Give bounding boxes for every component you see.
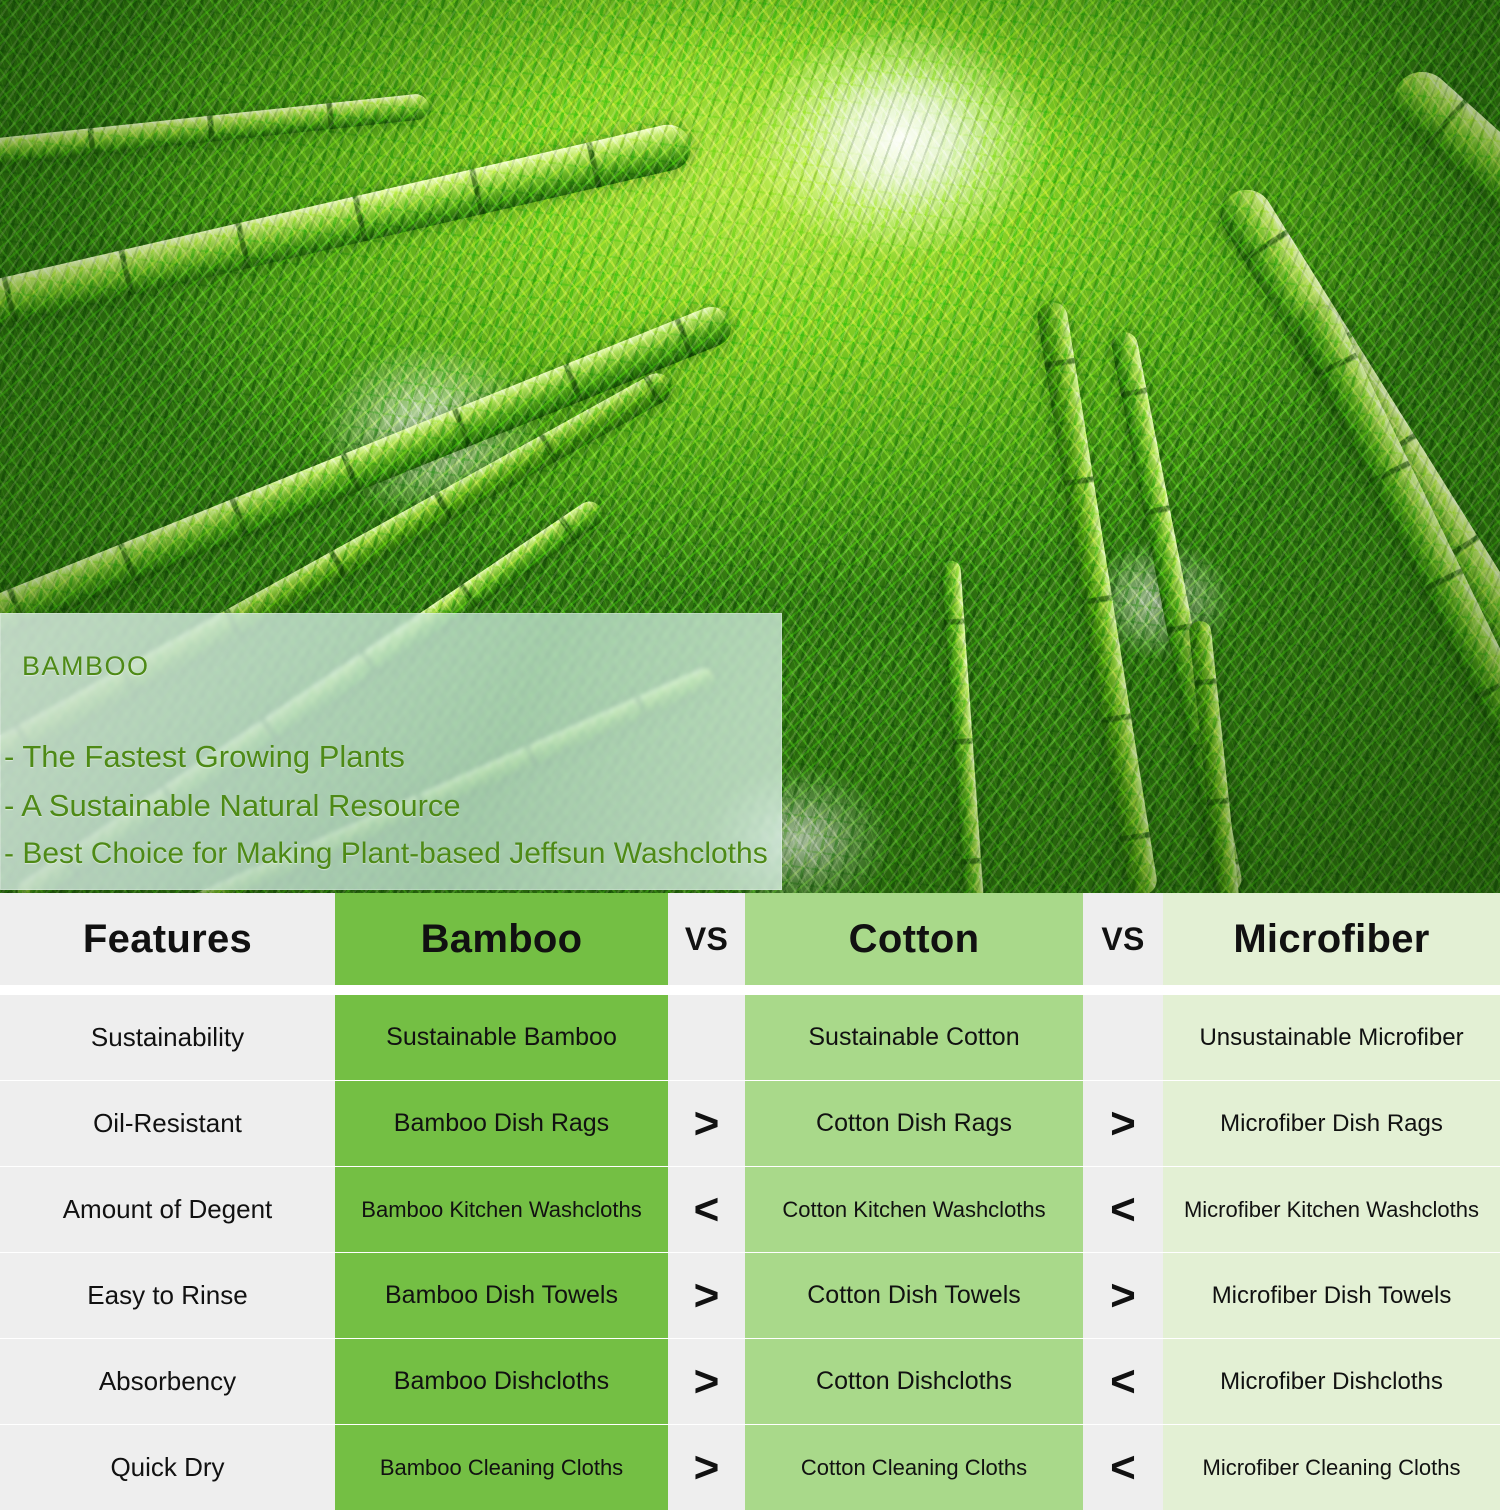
cell-comparator: > bbox=[668, 1339, 745, 1424]
cell-bamboo: Bamboo Dish Rags bbox=[335, 1081, 668, 1166]
cell-comparator: > bbox=[1083, 1253, 1163, 1338]
table-row: Oil-Resistant Bamboo Dish Rags > Cotton … bbox=[0, 1081, 1500, 1166]
panel-title: BAMBOO bbox=[22, 651, 150, 682]
cell-feature: Sustainability bbox=[0, 995, 335, 1080]
cell-feature: Absorbency bbox=[0, 1339, 335, 1424]
cell-microfiber: Microfiber Dish Towels bbox=[1163, 1253, 1500, 1338]
comparison-table: Features Bamboo VS Cotton VS Microfiber … bbox=[0, 893, 1500, 1500]
cell-comparator bbox=[668, 995, 745, 1080]
cell-comparator: > bbox=[668, 1425, 745, 1510]
header-cotton: Cotton bbox=[745, 893, 1083, 985]
bamboo-forest-photo: BAMBOO - The Fastest Growing Plants - A … bbox=[0, 0, 1500, 893]
cell-microfiber: Microfiber Cleaning Cloths bbox=[1163, 1425, 1500, 1510]
table-row: Sustainability Sustainable Bamboo Sustai… bbox=[0, 995, 1500, 1080]
cell-comparator bbox=[1083, 995, 1163, 1080]
panel-bullet-2: - A Sustainable Natural Resource bbox=[4, 788, 461, 824]
cell-comparator: > bbox=[668, 1253, 745, 1338]
cell-feature: Easy to Rinse bbox=[0, 1253, 335, 1338]
cell-bamboo: Bamboo Cleaning Cloths bbox=[335, 1425, 668, 1510]
header-microfiber: Microfiber bbox=[1163, 893, 1500, 985]
header-bamboo: Bamboo bbox=[335, 893, 668, 985]
cell-feature: Oil-Resistant bbox=[0, 1081, 335, 1166]
cell-bamboo: Bamboo Kitchen Washcloths bbox=[335, 1167, 668, 1252]
table-row: Quick Dry Bamboo Cleaning Cloths > Cotto… bbox=[0, 1425, 1500, 1510]
header-vs-1: VS bbox=[668, 893, 745, 985]
product-comparison-infographic: BAMBOO - The Fastest Growing Plants - A … bbox=[0, 0, 1500, 1500]
table-row: Absorbency Bamboo Dishcloths > Cotton Di… bbox=[0, 1339, 1500, 1424]
cell-cotton: Cotton Dish Towels bbox=[745, 1253, 1083, 1338]
cell-bamboo: Bamboo Dishcloths bbox=[335, 1339, 668, 1424]
cell-comparator: > bbox=[668, 1081, 745, 1166]
cell-microfiber: Microfiber Kitchen Washcloths bbox=[1163, 1167, 1500, 1252]
table-row: Amount of Degent Bamboo Kitchen Washclot… bbox=[0, 1167, 1500, 1252]
cell-cotton: Cotton Cleaning Cloths bbox=[745, 1425, 1083, 1510]
cell-comparator: < bbox=[1083, 1339, 1163, 1424]
row-divider bbox=[0, 985, 1500, 995]
table-header-row: Features Bamboo VS Cotton VS Microfiber bbox=[0, 893, 1500, 985]
cell-feature: Amount of Degent bbox=[0, 1167, 335, 1252]
cell-cotton: Sustainable Cotton bbox=[745, 995, 1083, 1080]
cell-cotton: Cotton Dish Rags bbox=[745, 1081, 1083, 1166]
bamboo-info-panel: BAMBOO - The Fastest Growing Plants - A … bbox=[0, 613, 782, 890]
cell-comparator: < bbox=[668, 1167, 745, 1252]
panel-bullet-3: - Best Choice for Making Plant-based Jef… bbox=[4, 837, 768, 871]
cell-bamboo: Bamboo Dish Towels bbox=[335, 1253, 668, 1338]
cell-feature: Quick Dry bbox=[0, 1425, 335, 1510]
cell-microfiber: Unsustainable Microfiber bbox=[1163, 995, 1500, 1080]
cell-bamboo: Sustainable Bamboo bbox=[335, 995, 668, 1080]
cell-microfiber: Microfiber Dish Rags bbox=[1163, 1081, 1500, 1166]
header-features: Features bbox=[0, 893, 335, 985]
panel-bullet-1: - The Fastest Growing Plants bbox=[4, 739, 405, 775]
cell-cotton: Cotton Kitchen Washcloths bbox=[745, 1167, 1083, 1252]
cell-cotton: Cotton Dishcloths bbox=[745, 1339, 1083, 1424]
cell-comparator: < bbox=[1083, 1425, 1163, 1510]
header-vs-2: VS bbox=[1083, 893, 1163, 985]
cell-comparator: > bbox=[1083, 1081, 1163, 1166]
cell-comparator: < bbox=[1083, 1167, 1163, 1252]
cell-microfiber: Microfiber Dishcloths bbox=[1163, 1339, 1500, 1424]
table-row: Easy to Rinse Bamboo Dish Towels > Cotto… bbox=[0, 1253, 1500, 1338]
